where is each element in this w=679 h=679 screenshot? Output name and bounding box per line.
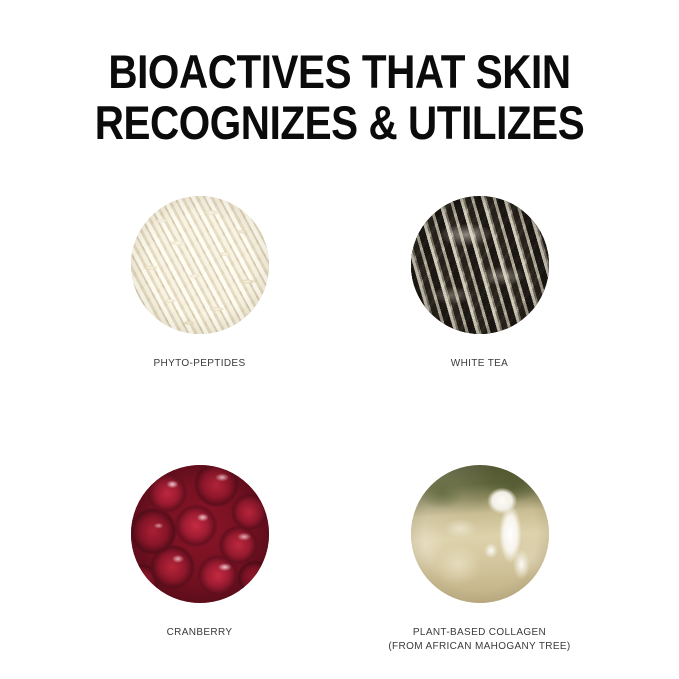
- rice-grains-photo: [131, 196, 269, 334]
- collagen-resin-photo: [411, 465, 549, 603]
- ingredient-card-plant-based-collagen: PLANT-BASED COLLAGEN (FROM AFRICAN MAHOG…: [355, 465, 605, 654]
- ingredient-row-1: PHYTO-PEPTIDES WHITE TEA: [0, 196, 679, 371]
- ingredient-label: CRANBERRY: [167, 627, 233, 638]
- ingredient-infographic: BIOACTIVES THAT SKIN RECOGNIZES & UTILIZ…: [0, 0, 679, 679]
- white-tea-leaves-photo: [411, 196, 549, 334]
- phyto-peptides-caption: PHYTO-PEPTIDES: [154, 357, 246, 371]
- phyto-peptides-image: [131, 196, 269, 334]
- ingredient-row-2: CRANBERRY PLANT-BASED COLLAGEN (FROM AFR…: [0, 465, 679, 654]
- cranberry-image: [131, 465, 269, 603]
- cranberries-photo: [131, 465, 269, 603]
- ingredient-sublabel: (FROM AFRICAN MAHOGANY TREE): [388, 640, 570, 654]
- page-title-line-1: BIOACTIVES THAT SKIN: [48, 48, 632, 95]
- page-title-line-2: RECOGNIZES & UTILIZES: [48, 99, 632, 146]
- ingredient-card-cranberry: CRANBERRY: [75, 465, 325, 640]
- ingredient-label: PHYTO-PEPTIDES: [154, 358, 246, 369]
- plant-based-collagen-image: [411, 465, 549, 603]
- ingredient-label: WHITE TEA: [451, 358, 508, 369]
- ingredient-card-white-tea: WHITE TEA: [355, 196, 605, 371]
- page-title: BIOACTIVES THAT SKIN RECOGNIZES & UTILIZ…: [0, 48, 679, 146]
- ingredient-grid: PHYTO-PEPTIDES WHITE TEA CRANBERRY: [0, 196, 679, 654]
- white-tea-caption: WHITE TEA: [451, 357, 508, 371]
- plant-based-collagen-caption: PLANT-BASED COLLAGEN (FROM AFRICAN MAHOG…: [388, 626, 570, 654]
- white-tea-image: [411, 196, 549, 334]
- ingredient-card-phyto-peptides: PHYTO-PEPTIDES: [75, 196, 325, 371]
- ingredient-label: PLANT-BASED COLLAGEN: [413, 627, 546, 638]
- cranberry-caption: CRANBERRY: [167, 626, 233, 640]
